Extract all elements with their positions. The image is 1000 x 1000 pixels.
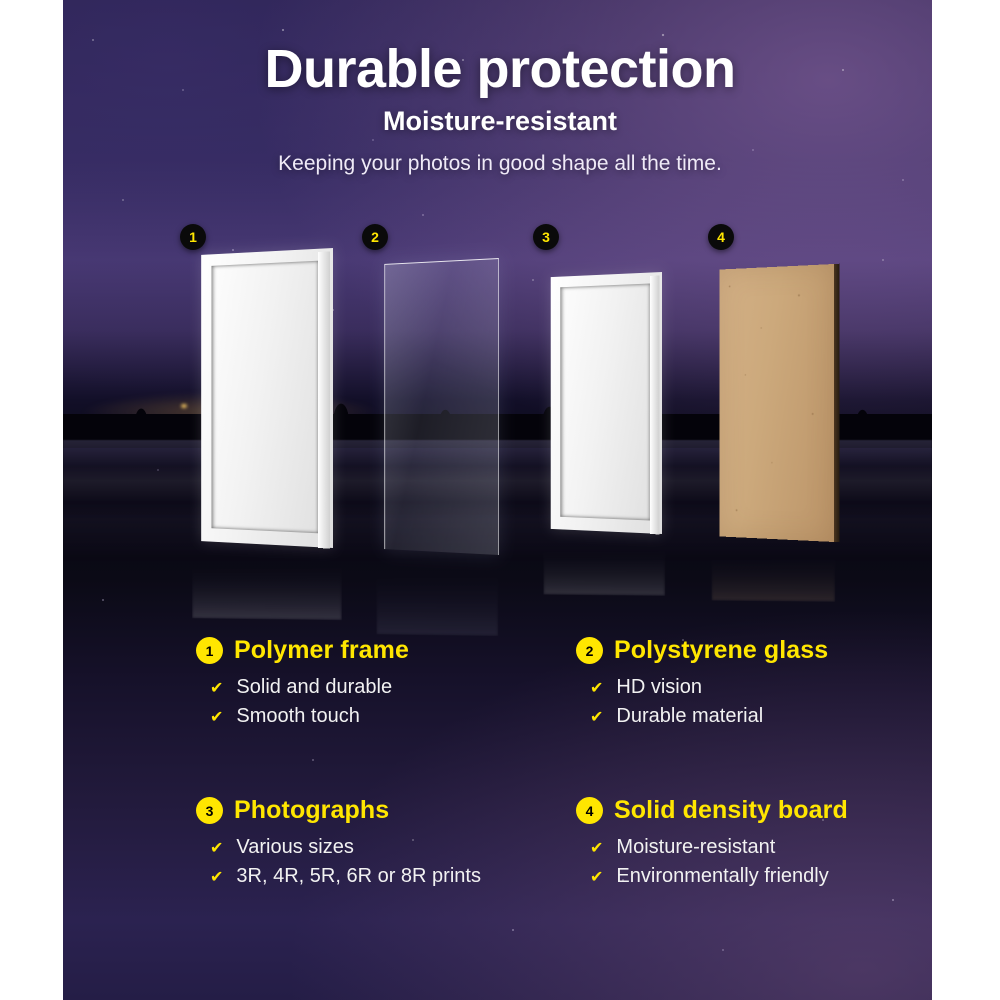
- layer-polystyrene-glass: [384, 258, 499, 555]
- feature-title: Polystyrene glass: [614, 636, 828, 665]
- diagram-badge-1: 1: [180, 224, 206, 250]
- feature-title: Polymer frame: [234, 636, 409, 665]
- mat-opening: [560, 284, 650, 521]
- layer-density-board: [719, 264, 834, 542]
- feature-item: ✔ HD vision: [576, 676, 976, 699]
- frame-opening: [211, 261, 318, 534]
- feature-item: ✔ Smooth touch: [196, 705, 596, 728]
- feature-block-photographs: 3 Photographs ✔ Various sizes ✔ 3R, 4R, …: [196, 796, 596, 888]
- mat-reflection: [544, 534, 665, 595]
- feature-list: 1 Polymer frame ✔ Solid and durable ✔ Sm…: [0, 636, 1000, 936]
- feature-badge-1: 1: [196, 637, 223, 664]
- feature-item-text: Various sizes: [236, 836, 353, 859]
- board-side-edge: [834, 264, 840, 543]
- feature-block-polystyrene-glass: 2 Polystyrene glass ✔ HD vision ✔ Durabl…: [576, 636, 976, 728]
- check-icon: ✔: [590, 841, 603, 857]
- diagram-badge-4: 4: [708, 224, 734, 250]
- feature-item: ✔ Various sizes: [196, 836, 596, 859]
- check-icon: ✔: [210, 841, 223, 857]
- glass-reflection: [377, 554, 498, 636]
- feature-item: ✔ Durable material: [576, 705, 976, 728]
- feature-item: ✔ Environmentally friendly: [576, 865, 976, 888]
- feature-item-text: HD vision: [616, 676, 702, 699]
- page-subtitle: Moisture-resistant: [0, 106, 1000, 137]
- mat-side-edge: [650, 276, 659, 535]
- feature-item-text: Environmentally friendly: [616, 865, 828, 888]
- feature-item-text: Solid and durable: [236, 676, 392, 699]
- feature-badge-2: 2: [576, 637, 603, 664]
- feature-block-density-board: 4 Solid density board ✔ Moisture-resista…: [576, 796, 976, 888]
- check-icon: ✔: [210, 710, 223, 726]
- feature-item: ✔ Solid and durable: [196, 676, 596, 699]
- diagram-badge-3: 3: [533, 224, 559, 250]
- feature-badge-3: 3: [196, 797, 223, 824]
- feature-item: ✔ Moisture-resistant: [576, 836, 976, 859]
- feature-item-text: Smooth touch: [236, 705, 359, 728]
- frame-side-edge: [318, 251, 330, 548]
- feature-item-text: Durable material: [616, 705, 763, 728]
- infographic-canvas: Durable protection Moisture-resistant Ke…: [0, 0, 1000, 1000]
- feature-item-text: 3R, 4R, 5R, 6R or 8R prints: [236, 865, 481, 888]
- feature-title: Solid density board: [614, 796, 848, 825]
- layer-polymer-frame: [201, 248, 333, 548]
- feature-heading: 4 Solid density board: [576, 796, 976, 825]
- check-icon: ✔: [210, 870, 223, 886]
- check-icon: ✔: [590, 710, 603, 726]
- feature-heading: 1 Polymer frame: [196, 636, 596, 665]
- feature-item-text: Moisture-resistant: [616, 836, 775, 859]
- feature-heading: 3 Photographs: [196, 796, 596, 825]
- page-tagline: Keeping your photos in good shape all th…: [0, 152, 1000, 176]
- feature-heading: 2 Polystyrene glass: [576, 636, 976, 665]
- shore-light: [181, 404, 187, 408]
- board-reflection: [712, 542, 835, 601]
- check-icon: ✔: [210, 681, 223, 697]
- page-title: Durable protection: [0, 38, 1000, 100]
- feature-badge-4: 4: [576, 797, 603, 824]
- feature-block-polymer-frame: 1 Polymer frame ✔ Solid and durable ✔ Sm…: [196, 636, 596, 728]
- frame-reflection: [192, 548, 341, 620]
- layer-photograph: [551, 272, 662, 534]
- feature-title: Photographs: [234, 796, 389, 825]
- check-icon: ✔: [590, 681, 603, 697]
- feature-item: ✔ 3R, 4R, 5R, 6R or 8R prints: [196, 865, 596, 888]
- diagram-badge-2: 2: [362, 224, 388, 250]
- check-icon: ✔: [590, 870, 603, 886]
